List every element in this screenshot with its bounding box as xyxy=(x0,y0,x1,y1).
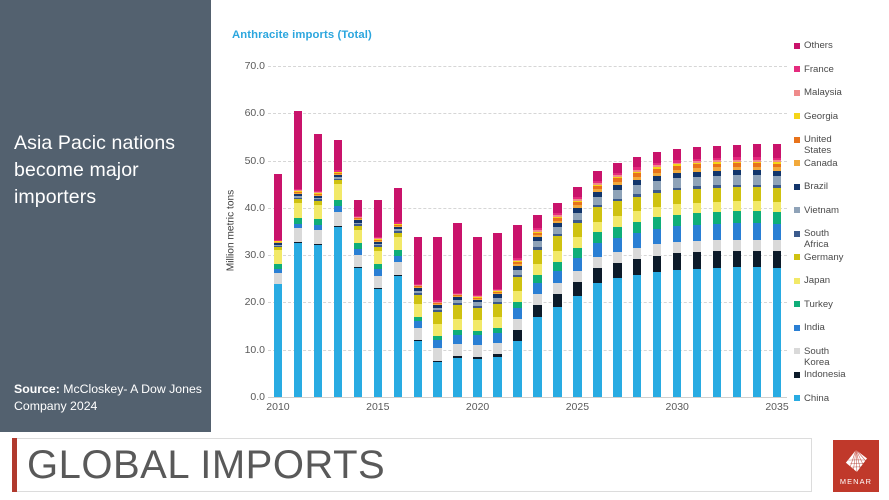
bar-segment-others xyxy=(653,152,661,163)
bar-segment-south-korea xyxy=(633,248,641,259)
legend-swatch-icon xyxy=(794,113,800,119)
bar-segment-india xyxy=(414,321,422,328)
bar-segment-turkey xyxy=(773,212,781,224)
bar-segment-india xyxy=(394,256,402,263)
legend-label: France xyxy=(804,64,834,75)
bar-segment-vietnam xyxy=(593,197,601,205)
bar-segment-others xyxy=(453,223,461,293)
gridline xyxy=(268,302,787,303)
bar-segment-china xyxy=(653,272,661,397)
bar-2035[interactable] xyxy=(773,144,781,397)
bar-2033[interactable] xyxy=(733,145,741,397)
y-axis-tick-label: 0.0 xyxy=(250,391,265,403)
bar-segment-others xyxy=(593,171,601,180)
bar-segment-japan xyxy=(613,216,621,227)
bar-segment-china xyxy=(513,341,521,397)
bar-segment-south-korea xyxy=(394,262,402,275)
y-axis: Million metric tons 0.010.020.030.040.05… xyxy=(211,55,271,400)
bar-segment-india xyxy=(673,226,681,242)
bar-2015[interactable] xyxy=(374,200,382,397)
bar-segment-japan xyxy=(553,251,561,262)
bar-segment-china xyxy=(753,267,761,397)
bar-segment-south-korea xyxy=(294,228,302,242)
legend-label: Turkey xyxy=(804,299,833,310)
legend-swatch-icon xyxy=(794,231,800,237)
x-axis-tick-label: 2020 xyxy=(466,401,489,413)
legend-label: Others xyxy=(804,40,833,51)
bar-segment-china xyxy=(334,227,342,397)
legend-label: Canada xyxy=(804,158,838,169)
legend-item-south-korea[interactable]: South Korea xyxy=(794,346,846,369)
bar-segment-others xyxy=(713,146,721,158)
chart-panel: Anthracite imports (Total) Million metri… xyxy=(211,0,889,432)
legend-item-united-states[interactable]: United States xyxy=(794,134,846,157)
bar-segment-japan xyxy=(453,319,461,331)
chart-title: Anthracite imports (Total) xyxy=(232,29,372,41)
bar-segment-china xyxy=(573,296,581,397)
bar-segment-china xyxy=(294,243,302,397)
bar-segment-others xyxy=(414,237,422,283)
bar-segment-turkey xyxy=(633,222,641,233)
bar-segment-india xyxy=(493,333,501,343)
bar-segment-germany xyxy=(453,305,461,318)
bar-segment-china xyxy=(473,359,481,397)
bar-segment-turkey xyxy=(593,232,601,242)
bar-segment-india xyxy=(753,223,761,239)
bar-segment-japan xyxy=(493,317,501,328)
bar-segment-india xyxy=(633,233,641,248)
bar-segment-japan xyxy=(533,264,541,275)
legend-label: Brazil xyxy=(804,181,828,192)
bar-segment-turkey xyxy=(753,211,761,223)
bar-2019[interactable] xyxy=(453,223,461,397)
bar-segment-china xyxy=(553,307,561,397)
legend-item-japan[interactable]: Japan xyxy=(794,275,830,286)
bar-segment-south-korea xyxy=(314,230,322,244)
bar-segment-india xyxy=(433,340,441,348)
plot-area xyxy=(268,66,787,397)
bar-2017[interactable] xyxy=(414,237,422,397)
bar-segment-india xyxy=(693,225,701,241)
y-axis-tick-label: 70.0 xyxy=(245,60,265,72)
bar-segment-others xyxy=(374,200,382,236)
bar-segment-china xyxy=(274,284,282,397)
bar-segment-others xyxy=(473,237,481,295)
bar-2030[interactable] xyxy=(673,149,681,397)
legend-label: Indonesia xyxy=(804,369,846,380)
x-axis-tick-label: 2030 xyxy=(666,401,689,413)
y-axis-tick-label: 50.0 xyxy=(245,155,265,167)
bar-2012[interactable] xyxy=(314,134,322,397)
bar-segment-china xyxy=(453,358,461,397)
bar-segment-vietnam xyxy=(573,213,581,221)
bar-segment-germany xyxy=(753,187,761,201)
bar-segment-china xyxy=(433,362,441,397)
bottom-title-bar: GLOBAL IMPORTS xyxy=(0,432,889,500)
bar-segment-india xyxy=(733,223,741,239)
bar-segment-indonesia xyxy=(573,282,581,296)
bar-segment-germany xyxy=(653,193,661,207)
bar-segment-germany xyxy=(433,312,441,323)
legend-swatch-icon xyxy=(794,43,800,49)
bar-segment-india xyxy=(533,283,541,294)
bar-segment-china xyxy=(533,317,541,397)
bar-segment-japan xyxy=(653,207,661,217)
bar-segment-south-korea xyxy=(433,348,441,360)
bar-segment-south-korea xyxy=(593,257,601,268)
title-accent-bar xyxy=(12,438,17,492)
bar-segment-japan xyxy=(713,202,721,212)
bar-segment-turkey xyxy=(673,215,681,227)
bar-segment-germany xyxy=(633,197,641,212)
bar-segment-japan xyxy=(773,202,781,212)
bar-segment-indonesia xyxy=(553,294,561,307)
bar-segment-germany xyxy=(414,295,422,304)
bar-segment-china xyxy=(633,275,641,397)
bar-segment-indonesia xyxy=(613,263,621,278)
legend-item-turkey[interactable]: Turkey xyxy=(794,299,833,310)
bar-segment-south-korea xyxy=(733,240,741,251)
bar-2014[interactable] xyxy=(354,200,362,397)
y-axis-tick-label: 10.0 xyxy=(245,344,265,356)
left-sidebar-panel: Asia Pacic nations become major importer… xyxy=(0,0,211,432)
y-axis-tick-label: 40.0 xyxy=(245,202,265,214)
legend-label: Malaysia xyxy=(804,87,842,98)
bar-segment-japan xyxy=(513,291,521,302)
bar-2025[interactable] xyxy=(573,187,581,397)
bar-segment-south-korea xyxy=(453,344,461,357)
x-axis-tick-label: 2010 xyxy=(266,401,289,413)
legend-swatch-icon xyxy=(794,395,800,401)
legend-swatch-icon xyxy=(794,278,800,284)
bar-segment-south-korea xyxy=(653,244,661,255)
sidebar-headline: Asia Pacic nations become major importer… xyxy=(14,130,204,211)
legend-item-canada[interactable]: Canada xyxy=(794,158,838,169)
bar-segment-others xyxy=(733,145,741,158)
bar-segment-turkey xyxy=(713,212,721,224)
bar-segment-japan xyxy=(673,204,681,214)
bar-segment-others xyxy=(334,140,342,170)
bar-segment-japan xyxy=(294,203,302,218)
bar-segment-south-korea xyxy=(513,319,521,330)
bar-segment-indonesia xyxy=(733,251,741,268)
bar-segment-indonesia xyxy=(533,305,541,317)
bar-segment-others xyxy=(493,233,501,289)
bar-segment-south-korea xyxy=(334,212,342,227)
legend-swatch-icon xyxy=(794,325,800,331)
bar-segment-others xyxy=(693,147,701,159)
bar-segment-india xyxy=(773,224,781,240)
page-title: GLOBAL IMPORTS xyxy=(27,437,385,493)
bar-segment-china xyxy=(713,268,721,397)
bar-segment-south-korea xyxy=(374,276,382,288)
bar-segment-indonesia xyxy=(593,268,601,283)
bar-2024[interactable] xyxy=(553,203,561,397)
x-axis-tick-label: 2035 xyxy=(765,401,788,413)
legend-swatch-icon xyxy=(794,372,800,378)
legend-swatch-icon xyxy=(794,160,800,166)
bar-segment-china xyxy=(593,283,601,397)
bar-segment-turkey xyxy=(613,227,621,238)
legend-swatch-icon xyxy=(794,90,800,96)
legend-swatch-icon xyxy=(794,254,800,260)
bar-segment-others xyxy=(274,174,282,240)
bar-segment-south-korea xyxy=(553,283,561,294)
legend-item-malaysia[interactable]: Malaysia xyxy=(794,87,842,98)
gridline xyxy=(268,350,787,351)
legend-item-south-africa[interactable]: South Africa xyxy=(794,228,846,251)
bar-segment-turkey xyxy=(653,217,661,229)
bar-segment-others xyxy=(573,187,581,197)
gridline xyxy=(268,161,787,162)
bar-segment-others xyxy=(533,215,541,228)
bar-segment-china xyxy=(354,268,362,397)
bar-segment-japan xyxy=(733,201,741,211)
bar-segment-south-korea xyxy=(533,294,541,305)
bar-segment-others xyxy=(773,144,781,158)
bar-segment-china xyxy=(374,289,382,397)
bar-segment-others xyxy=(433,237,441,300)
bar-2011[interactable] xyxy=(294,111,302,397)
bar-segment-japan xyxy=(374,251,382,264)
bar-2034[interactable] xyxy=(753,144,761,397)
x-axis: 201020152020202520302035 xyxy=(268,399,787,419)
bar-segment-south-korea xyxy=(673,242,681,253)
bar-segment-vietnam xyxy=(613,190,621,199)
legend-swatch-icon xyxy=(794,207,800,213)
bar-2018[interactable] xyxy=(433,237,441,397)
bar-segment-south-korea xyxy=(473,345,481,357)
chart-legend: OthersFranceMalaysiaGeorgiaUnited States… xyxy=(794,40,889,420)
bar-segment-germany xyxy=(493,304,501,317)
bar-segment-germany xyxy=(713,188,721,202)
bar-segment-china xyxy=(693,269,701,397)
y-axis-tick-label: 30.0 xyxy=(245,249,265,261)
bar-2013[interactable] xyxy=(334,140,342,397)
bar-segment-vietnam xyxy=(733,175,741,184)
bar-segment-south-korea xyxy=(274,273,282,283)
bar-2029[interactable] xyxy=(653,152,661,397)
bar-2028[interactable] xyxy=(633,157,641,397)
bar-segment-china xyxy=(414,341,422,397)
source-label: Source: xyxy=(14,382,60,396)
bar-segment-japan xyxy=(593,222,601,233)
legend-label: India xyxy=(804,322,825,333)
bar-2020[interactable] xyxy=(473,237,481,397)
bar-segment-japan xyxy=(693,203,701,213)
legend-label: Germany xyxy=(804,252,843,263)
bar-segment-germany xyxy=(533,250,541,264)
bar-segment-indonesia xyxy=(693,252,701,269)
bar-segment-turkey xyxy=(533,275,541,283)
bar-segment-south-korea xyxy=(493,343,501,355)
bar-segment-india xyxy=(593,243,601,257)
y-axis-tick-label: 20.0 xyxy=(245,296,265,308)
bar-segment-south-korea xyxy=(414,328,422,340)
bar-2021[interactable] xyxy=(493,233,501,397)
bar-segment-turkey xyxy=(693,213,701,225)
bar-segment-vietnam xyxy=(653,181,661,190)
bar-segment-germany xyxy=(553,236,561,251)
bar-segment-japan xyxy=(274,250,282,264)
bar-segment-germany xyxy=(473,308,481,320)
bar-segment-germany xyxy=(513,277,521,291)
bar-segment-germany xyxy=(593,207,601,222)
bar-segment-germany xyxy=(573,223,581,238)
bar-segment-china xyxy=(673,270,681,397)
legend-item-france[interactable]: France xyxy=(794,64,834,75)
bar-segment-india xyxy=(553,271,561,283)
bar-2027[interactable] xyxy=(613,163,621,397)
bar-2031[interactable] xyxy=(693,147,701,397)
bar-segment-indonesia xyxy=(673,253,681,270)
bar-segment-vietnam xyxy=(633,185,641,194)
bar-2010[interactable] xyxy=(274,174,282,397)
bar-segment-germany xyxy=(773,188,781,202)
x-axis-tick-label: 2025 xyxy=(566,401,589,413)
legend-item-india[interactable]: India xyxy=(794,322,825,333)
bar-segment-china xyxy=(493,357,501,397)
bar-segment-south-korea xyxy=(773,240,781,251)
x-axis-tick-label: 2015 xyxy=(366,401,389,413)
bar-segment-indonesia xyxy=(513,330,521,341)
legend-label: South Africa xyxy=(804,228,846,251)
bar-segment-china xyxy=(773,268,781,397)
bar-segment-indonesia xyxy=(713,251,721,268)
bar-segment-vietnam xyxy=(673,178,681,187)
bar-segment-vietnam xyxy=(553,227,561,234)
source-note: Source: McCloskey- A Dow Jones Company 2… xyxy=(14,381,204,415)
legend-swatch-icon xyxy=(794,137,800,143)
bar-segment-india xyxy=(513,308,521,318)
bar-segment-india xyxy=(573,258,581,271)
bar-segment-south-korea xyxy=(354,255,362,267)
legend-item-others[interactable]: Others xyxy=(794,40,833,51)
legend-item-brazil[interactable]: Brazil xyxy=(794,181,828,192)
bar-segment-india xyxy=(453,335,461,344)
bar-segment-japan xyxy=(573,237,581,248)
bar-segment-japan xyxy=(473,320,481,331)
legend-swatch-icon xyxy=(794,348,800,354)
gridline xyxy=(268,113,787,114)
bar-segment-japan xyxy=(433,324,441,336)
bar-segment-south-korea xyxy=(573,271,581,282)
bar-segment-vietnam xyxy=(693,177,701,186)
bar-segment-vietnam xyxy=(713,176,721,185)
legend-item-china[interactable]: China xyxy=(794,393,829,404)
bar-segment-japan xyxy=(354,230,362,244)
bar-segment-india xyxy=(613,238,621,252)
legend-label: United States xyxy=(804,134,846,157)
bar-segment-germany xyxy=(733,187,741,201)
bar-segment-india xyxy=(653,229,661,244)
bar-2022[interactable] xyxy=(513,225,521,397)
bar-segment-germany xyxy=(673,190,681,204)
bar-segment-others xyxy=(613,163,621,173)
bar-segment-others xyxy=(673,149,681,160)
legend-swatch-icon xyxy=(794,184,800,190)
legend-item-germany[interactable]: Germany xyxy=(794,252,843,263)
bar-segment-germany xyxy=(693,189,701,203)
bar-segment-indonesia xyxy=(773,251,781,268)
bar-segment-others xyxy=(753,144,761,157)
bar-segment-china xyxy=(613,278,621,397)
bar-segment-japan xyxy=(394,237,402,250)
legend-label: China xyxy=(804,393,829,404)
legend-swatch-icon xyxy=(794,66,800,72)
legend-label: Georgia xyxy=(804,111,838,122)
bar-segment-vietnam xyxy=(773,176,781,185)
y-axis-label: Million metric tons xyxy=(226,151,237,311)
y-axis-tick-label: 60.0 xyxy=(245,107,265,119)
menar-fan-icon xyxy=(842,447,870,475)
bar-segment-japan xyxy=(633,211,641,221)
bar-segment-south-korea xyxy=(693,241,701,252)
bar-2026[interactable] xyxy=(593,171,601,397)
legend-item-georgia[interactable]: Georgia xyxy=(794,111,838,122)
bar-segment-germany xyxy=(613,201,621,216)
bar-segment-turkey xyxy=(733,211,741,223)
legend-label: Vietnam xyxy=(804,205,839,216)
bar-segment-japan xyxy=(753,201,761,211)
bar-segment-indonesia xyxy=(653,256,661,272)
bar-segment-turkey xyxy=(553,262,561,271)
legend-item-indonesia[interactable]: Indonesia xyxy=(794,369,846,380)
bar-segment-others xyxy=(294,111,302,189)
menar-wordmark: MENAR xyxy=(840,477,872,486)
bar-segment-vietnam xyxy=(753,175,761,184)
gridline xyxy=(268,208,787,209)
bar-segment-japan xyxy=(314,205,322,220)
legend-swatch-icon xyxy=(794,301,800,307)
bar-segment-south-korea xyxy=(613,252,621,263)
menar-logo: MENAR xyxy=(833,440,879,492)
bar-segment-turkey xyxy=(573,248,581,257)
bar-segment-indonesia xyxy=(633,259,641,275)
bar-segment-south-korea xyxy=(753,240,761,251)
bar-segment-indonesia xyxy=(753,251,761,268)
bar-2023[interactable] xyxy=(533,215,541,397)
bar-segment-others xyxy=(394,188,402,223)
bar-segment-china xyxy=(394,276,402,397)
bar-segment-japan xyxy=(414,304,422,316)
bar-segment-others xyxy=(513,225,521,258)
bar-segment-others xyxy=(354,200,362,215)
legend-label: Japan xyxy=(804,275,830,286)
bar-2016[interactable] xyxy=(394,188,402,397)
axis-baseline xyxy=(268,397,787,398)
bar-segment-japan xyxy=(334,184,342,200)
gridline xyxy=(268,66,787,67)
legend-label: South Korea xyxy=(804,346,846,369)
legend-item-vietnam[interactable]: Vietnam xyxy=(794,205,839,216)
bar-segment-india xyxy=(713,224,721,240)
gridline xyxy=(268,255,787,256)
bar-2032[interactable] xyxy=(713,146,721,397)
bar-segment-south-korea xyxy=(713,240,721,251)
bar-segment-india xyxy=(473,335,481,344)
bar-segment-others xyxy=(633,157,641,167)
bar-segment-others xyxy=(314,134,322,191)
bar-segment-china xyxy=(733,267,741,397)
bar-segment-china xyxy=(314,245,322,397)
bar-segment-others xyxy=(553,203,561,213)
